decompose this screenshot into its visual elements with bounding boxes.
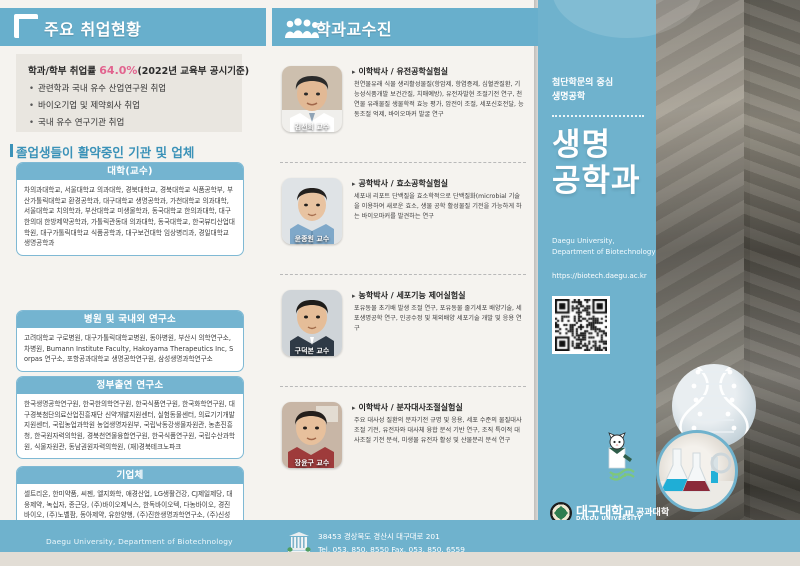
employment-rate-value: 64.0%	[99, 64, 137, 77]
employment-bullet: 바이오기업 및 제약회사 취업	[29, 99, 140, 111]
people-icon	[284, 17, 320, 39]
divider	[280, 386, 526, 387]
faculty-member: 김선회 교수 이학박사 / 유전공학실험실 천연물유래 식물 생리활성물질(항암…	[272, 54, 532, 158]
college-name: 공과대학	[636, 505, 669, 518]
card-title: 대학(교수)	[17, 163, 243, 180]
employment-rate-suffix: (2022년 교육부 공시기준)	[137, 66, 249, 77]
faculty-name: 윤종원 교수	[282, 234, 342, 244]
card-title: 기업체	[17, 467, 243, 484]
faculty-title: 농학박사 / 세포기능 제어실험실	[352, 290, 465, 301]
alumni-subtitle: 졸업생들이 활약중인 기관 및 업체	[16, 142, 194, 161]
alumni-card-university: 대학(교수) 차의과대학교, 서울대학교 의과대학, 경북대학교, 경북대학교 …	[16, 162, 244, 256]
lab-flasks-photo	[656, 430, 738, 512]
employment-stat-box: 학과/학부 취업률 64.0%(2022년 교육부 공시기준) 관련학과 국내 …	[16, 54, 242, 132]
cat-mascot-icon	[600, 432, 642, 490]
employment-bullet: 관련학과 국내 유수 산업연구원 취업	[29, 82, 166, 94]
alumni-card-government: 정부출연 연구소 한국생명공학연구원, 한국한의학연구원, 한국식품연구원, 한…	[16, 376, 244, 459]
footer-address: 38453 경상북도 경산시 대구대로 201	[318, 531, 465, 544]
footer-department-name: Daegu University, Department of Biotechn…	[46, 537, 233, 546]
faculty-description: 포유동물 초기배 발생 조절 연구, 포유동물 줄기세포 배양기술, 세포생명공…	[354, 304, 524, 334]
faculty-member: 구덕본 교수 농학박사 / 세포기능 제어실험실 포유동물 초기배 발생 조절 …	[272, 278, 532, 382]
card-title: 정부출연 연구소	[17, 377, 243, 394]
cover-eyebrow: 첨단학문의 중심 생명공학	[552, 76, 613, 105]
brochure-page: 주요 취업현황 학과교수진 학과/학부 취업률 64.0%(2022년 교육부 …	[0, 0, 800, 566]
employment-section-header: 주요 취업현황	[0, 8, 266, 46]
cover-divider	[552, 115, 644, 117]
employment-bullet: 국내 유수 연구기관 취업	[29, 116, 124, 128]
faculty-title: 이학박사 / 분자대사조절실험실	[352, 402, 463, 413]
alumni-card-hospital: 병원 및 국내외 연구소 고려대학교 구로병원, 대구가톨릭대학교병원, 동아병…	[16, 310, 244, 372]
background-photo-right	[744, 0, 800, 566]
bracket-icon	[14, 14, 38, 38]
faculty-header-title: 학과교수진	[316, 16, 392, 40]
employment-rate-line: 학과/학부 취업률 64.0%(2022년 교육부 공시기준)	[28, 63, 249, 77]
faculty-description: 천연물유래 식물 생리활성물질(항암제, 항염증제, 심혈관질환, 기능성식품개…	[354, 80, 524, 120]
faculty-title: 공학박사 / 효소공학실험실	[352, 178, 448, 189]
card-body: 고려대학교 구로병원, 대구가톨릭대학교병원, 동아병원, 부산시 의학연구소,…	[17, 328, 243, 371]
cover-content: 첨단학문의 중심 생명공학 생명공학과 Daegu University, De…	[538, 0, 656, 520]
employment-header-title: 주요 취업현황	[44, 16, 141, 40]
divider	[280, 274, 526, 275]
cover-title-line1: 생명	[552, 127, 611, 163]
cover-website-url[interactable]: https://biotech.daegu.ac.kr	[552, 272, 647, 280]
faculty-description: 주요 대사성 질환의 분자기전 규명 및 응용, 세포 수준의 물질대사 조절 …	[354, 416, 524, 446]
footer-bottom-strip	[0, 552, 800, 566]
employment-column: 학과/학부 취업률 64.0%(2022년 교육부 공시기준) 관련학과 국내 …	[0, 46, 266, 520]
faculty-section-header: 학과교수진	[272, 8, 538, 46]
faculty-member: 장윤구 교수 이학박사 / 분자대사조절실험실 주요 대사성 질환의 분자기전 …	[272, 390, 532, 494]
faculty-name: 구덕본 교수	[282, 346, 342, 356]
faculty-column: 김선회 교수 이학박사 / 유전공학실험실 천연물유래 식물 생리활성물질(항암…	[272, 46, 538, 520]
employment-rate-prefix: 학과/학부 취업률	[28, 66, 99, 77]
cover-title-line2: 공학과	[552, 163, 641, 199]
cover-english-name: Daegu University, Department of Biotechn…	[552, 236, 655, 259]
qr-code[interactable]	[552, 296, 610, 354]
faculty-description: 세포내 리포트 단백질을 효소학적으로 단백질화(microbial 기술을 이…	[354, 192, 524, 222]
faculty-member: 윤종원 교수 공학박사 / 효소공학실험실 세포내 리포트 단백질을 효소학적으…	[272, 166, 532, 270]
card-title: 병원 및 국내외 연구소	[17, 311, 243, 328]
cover-title: 생명공학과	[552, 128, 641, 200]
faculty-title: 이학박사 / 유전공학실험실	[352, 66, 448, 77]
faculty-name: 김선회 교수	[282, 122, 342, 132]
divider	[280, 162, 526, 163]
faculty-name: 장윤구 교수	[282, 458, 342, 468]
card-body: 한국생명공학연구원, 한국한의학연구원, 한국식품연구원, 한국화학연구원, 대…	[17, 394, 243, 458]
card-body: 차의과대학교, 서울대학교 의과대학, 경북대학교, 경북대학교 식품공학부, …	[17, 180, 243, 255]
